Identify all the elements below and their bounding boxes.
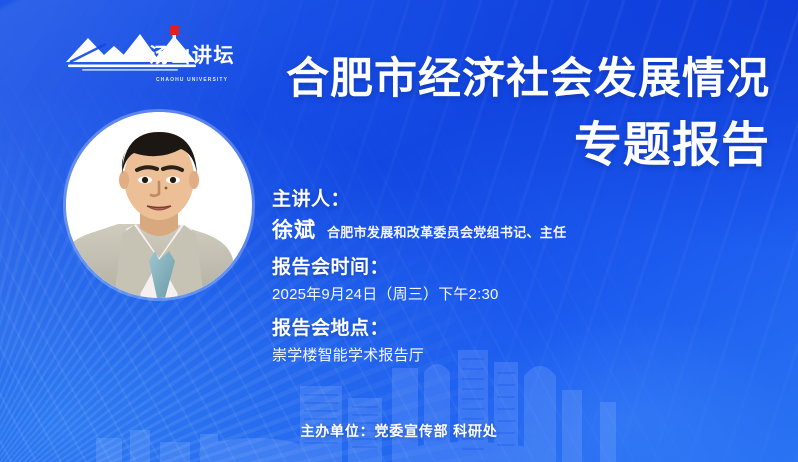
time-label: 报告会时间：	[272, 258, 742, 277]
lecture-poster: 汤山讲坛 CHAOHU UNIVERSITY	[0, 0, 798, 462]
speaker-title: 合肥市发展和改革委员会党组书记、主任	[327, 226, 566, 239]
place-label: 报告会地点：	[272, 319, 742, 338]
page-title-line1: 合肥市经济社会发展情况	[210, 58, 770, 101]
page-title: 合肥市经济社会发展情况 专题报告	[210, 58, 770, 170]
speaker-name: 徐斌	[272, 220, 316, 241]
place-value: 崇学楼智能学术报告厅	[272, 348, 742, 363]
spacer-2	[272, 302, 742, 319]
time-value: 2025年9月24日（周三）下午2:30	[272, 287, 742, 302]
spacer-1	[272, 241, 742, 258]
organizers-line: 主办单位：党委宣传部 科研处	[0, 421, 798, 441]
speaker-label: 主讲人：	[272, 190, 742, 209]
speaker-row: 徐斌 合肥市发展和改革委员会党组书记、主任	[272, 220, 742, 241]
page-title-line2: 专题报告	[210, 122, 770, 170]
event-details: 主讲人： 徐斌 合肥市发展和改革委员会党组书记、主任 报告会时间： 2025年9…	[272, 190, 742, 363]
